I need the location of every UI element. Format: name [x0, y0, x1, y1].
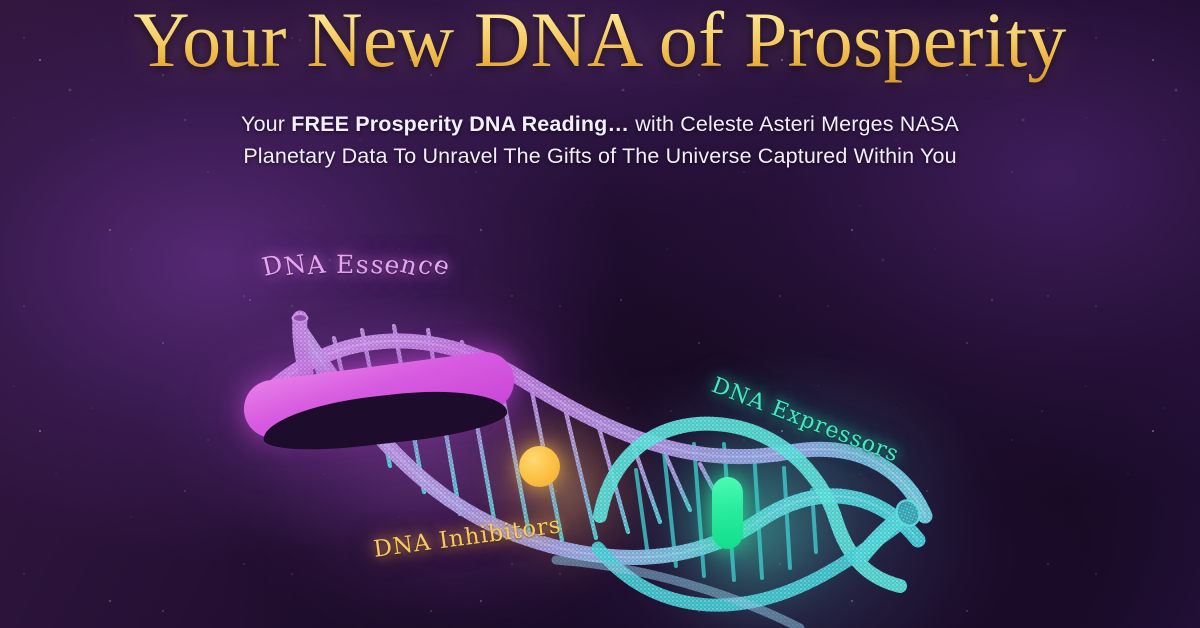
dna-helix-illustration: [0, 0, 1200, 628]
hero-banner: Your New DNA of Prosperity Your FREE Pro…: [0, 0, 1200, 628]
